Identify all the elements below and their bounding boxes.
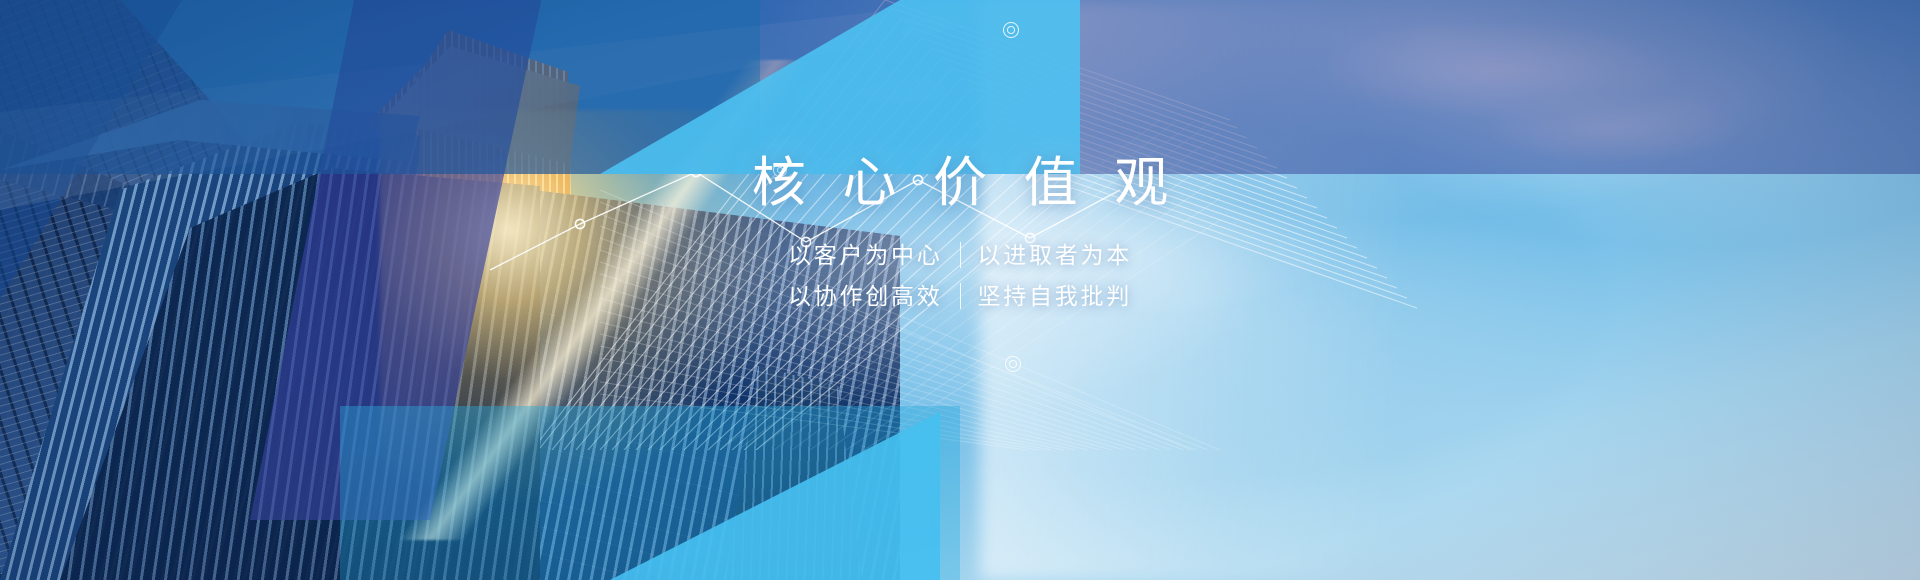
subtitle-group: 以客户为中心 以进取者为本 以协作创高效 坚持自我批判 xyxy=(788,240,1132,311)
subtitle-left-1: 以客户为中心 xyxy=(788,240,943,270)
subtitle-row: 以协作创高效 坚持自我批判 xyxy=(788,281,1132,311)
subtitle-row: 以客户为中心 以进取者为本 xyxy=(788,240,1132,270)
subtitle-left-2: 以协作创高效 xyxy=(788,281,943,311)
subtitle-right-1: 以进取者为本 xyxy=(978,240,1133,270)
subtitle-right-2: 坚持自我批判 xyxy=(978,281,1133,311)
banner-content: 核 心 价 值 观 以客户为中心 以进取者为本 以协作创高效 坚持自我批判 xyxy=(0,0,1920,580)
page-title: 核 心 价 值 观 xyxy=(741,152,1179,214)
subtitle-divider xyxy=(960,242,961,268)
subtitle-divider xyxy=(960,283,961,309)
core-values-banner: 核 心 价 值 观 以客户为中心 以进取者为本 以协作创高效 坚持自我批判 xyxy=(0,0,1920,580)
